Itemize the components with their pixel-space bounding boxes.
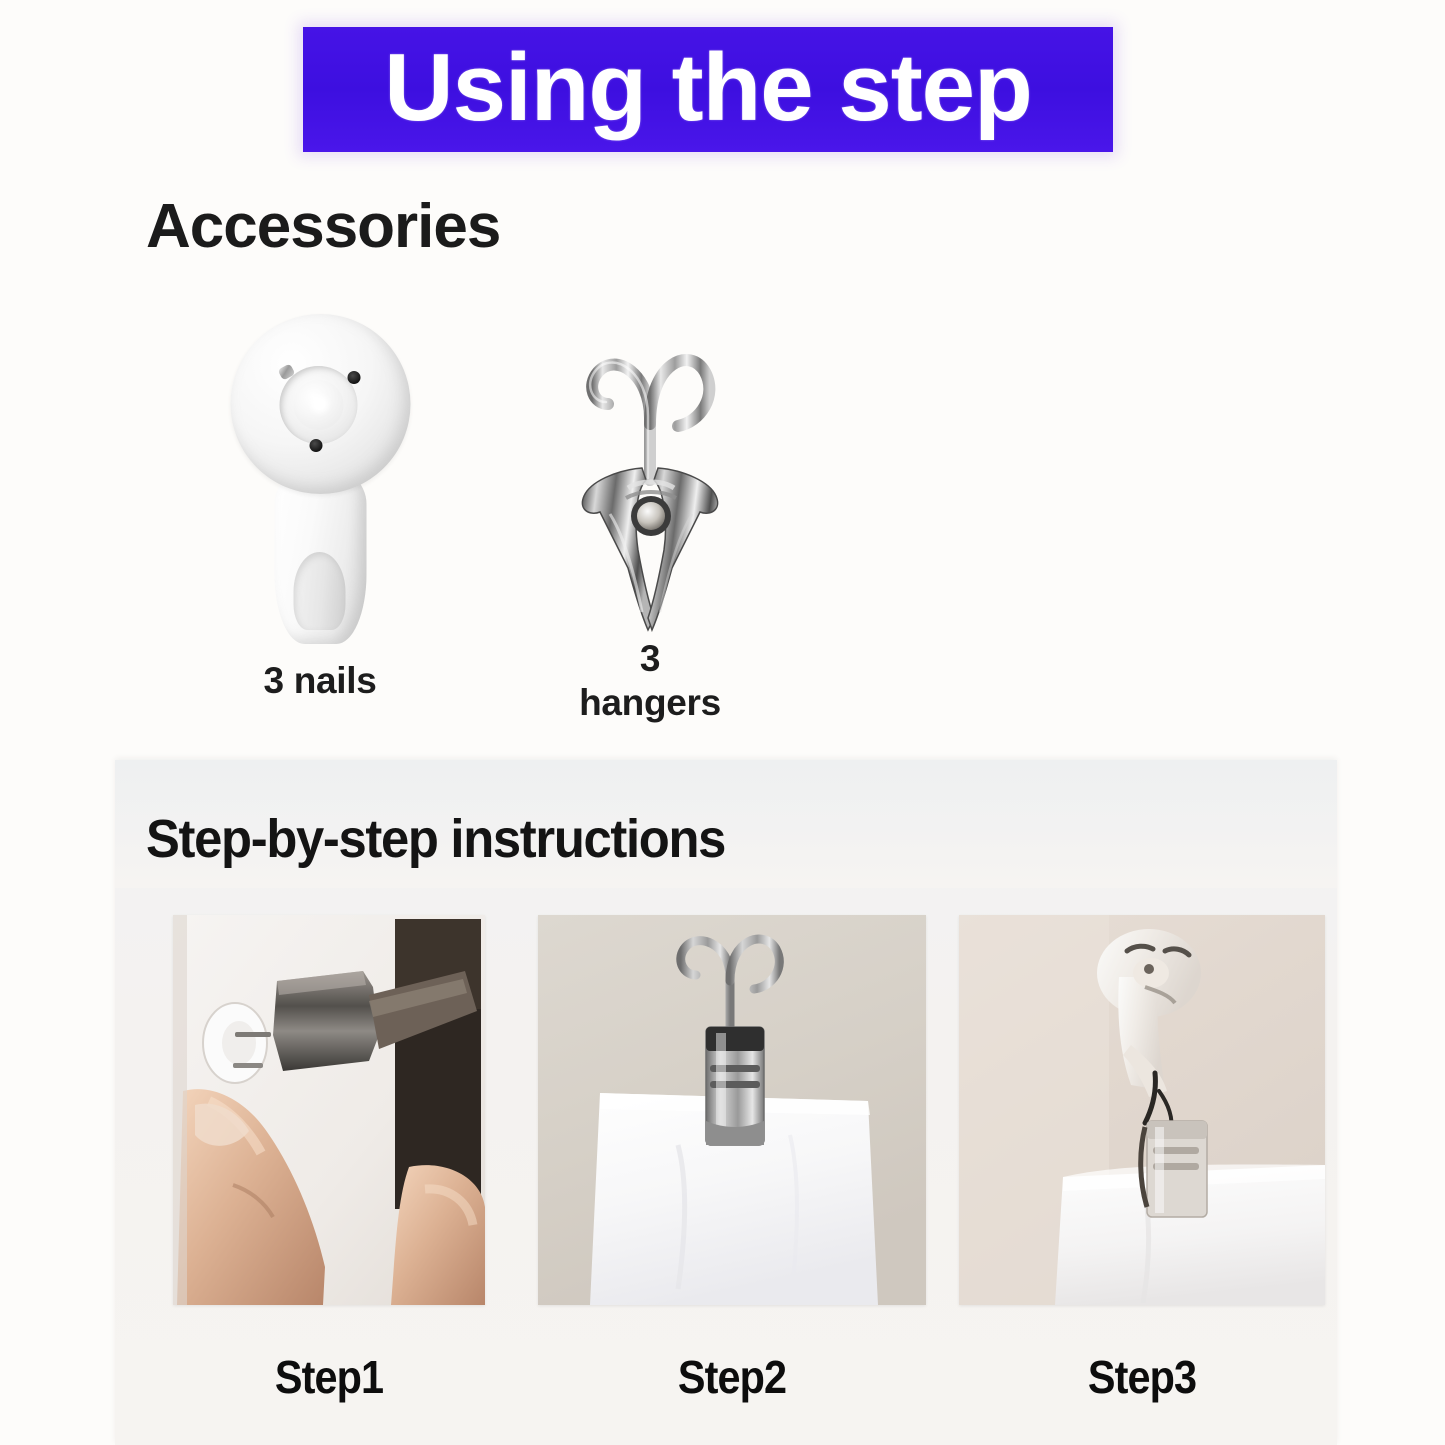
metal-clip-hanger-icon bbox=[500, 300, 800, 645]
step-by-step-heading: Step-by-step instructions bbox=[146, 808, 725, 870]
step1-label: Step1 bbox=[189, 1350, 470, 1404]
accessories-list: 3 nails bbox=[140, 300, 840, 740]
page-title-banner: Using the step bbox=[303, 27, 1113, 152]
accessory-caption-hangers: 3 hangers bbox=[500, 637, 800, 724]
accessory-caption-nails: 3 nails bbox=[170, 659, 470, 703]
step-labels: Step1 Step2 Step3 bbox=[173, 1350, 1325, 1420]
accessories-heading: Accessories bbox=[146, 193, 500, 261]
step-photos bbox=[173, 905, 1325, 1315]
white-nail-hook-icon bbox=[170, 300, 470, 645]
accessory-caption-hangers-line2: hangers bbox=[500, 681, 800, 725]
page-title: Using the step bbox=[384, 40, 1031, 136]
step3-photo bbox=[959, 915, 1325, 1305]
accessory-item-nails: 3 nails bbox=[170, 300, 470, 740]
accessory-item-hangers: 3 hangers bbox=[500, 300, 800, 740]
step2-label: Step2 bbox=[557, 1350, 906, 1404]
step2-photo bbox=[538, 915, 926, 1305]
step-by-step-panel: Step-by-step instructions bbox=[115, 760, 1337, 1445]
step1-photo bbox=[173, 915, 485, 1305]
step3-label: Step3 bbox=[977, 1350, 1306, 1404]
